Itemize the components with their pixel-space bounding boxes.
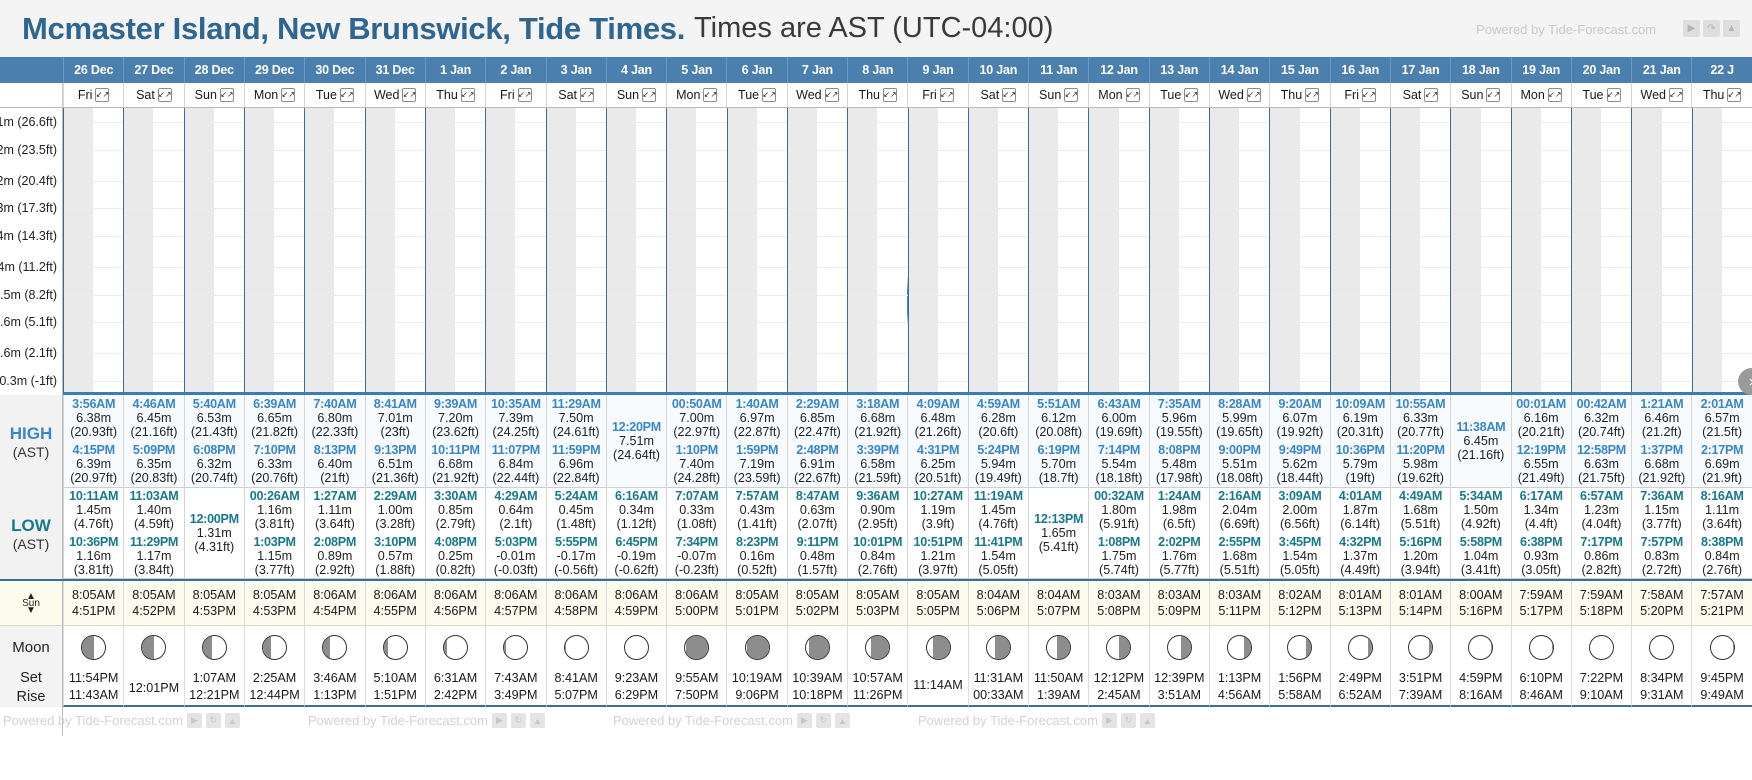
expand-icon[interactable]: ↙↗ bbox=[518, 88, 532, 102]
tide-height-m: 6.16m bbox=[1524, 411, 1559, 425]
sun-cell: 7:59AM5:18PM bbox=[1571, 581, 1631, 626]
moon-phase-icon bbox=[503, 635, 528, 660]
tide-height-m: 0.93m bbox=[1524, 549, 1559, 563]
tide-height-m: 7.50m bbox=[559, 411, 594, 425]
sunrise-time: 7:59AM bbox=[1519, 588, 1562, 602]
expand-icon[interactable]: ↙↗ bbox=[1727, 88, 1741, 102]
tide-height-ft: (21.82ft) bbox=[251, 425, 298, 439]
date-cell[interactable]: 8 Jan bbox=[847, 57, 907, 83]
high-tide-cell: 8:28AM5.99m(19.65ft)9:00PM5.51m(18.08ft) bbox=[1209, 395, 1269, 488]
sun-cell: 8:01AM5:14PM bbox=[1390, 581, 1450, 626]
weekday-cell: Tue↙↗ bbox=[1571, 83, 1631, 107]
date-cell[interactable]: 16 Jan bbox=[1330, 57, 1390, 83]
date-cell[interactable]: 28 Dec bbox=[184, 57, 244, 83]
page-header: Mcmaster Island, New Brunswick, Tide Tim… bbox=[0, 0, 1752, 57]
moonset-time: 2:49PM bbox=[1339, 671, 1382, 685]
high-tide-cell: 3:18AM6.68m(21.92ft)3:39PM6.58m(21.59ft) bbox=[847, 395, 907, 488]
moon-phase-icon bbox=[564, 635, 589, 660]
expand-icon[interactable]: ↙↗ bbox=[95, 88, 109, 102]
expand-icon[interactable]: ↙↗ bbox=[1607, 88, 1621, 102]
tide-time: 11:29PM bbox=[130, 535, 178, 549]
tide-height-ft: (21.75ft) bbox=[1578, 471, 1625, 485]
weekday-cell: Mon↙↗ bbox=[666, 83, 726, 107]
tide-time: 7:10PM bbox=[253, 443, 295, 457]
sunset-time: 5:09PM bbox=[1158, 604, 1201, 618]
tide-height-ft: (21.16ft) bbox=[131, 425, 178, 439]
tide-height-m: 1.65m bbox=[1041, 526, 1076, 540]
date-cell[interactable]: 20 Jan bbox=[1571, 57, 1631, 83]
expand-icon[interactable]: ↙↗ bbox=[940, 88, 954, 102]
low-tide-cell: 00:32AM1.80m(5.91ft)1:08PM1.75m(5.74ft) bbox=[1088, 488, 1148, 579]
tide-time: 1:21AM bbox=[1640, 397, 1683, 411]
day-separator bbox=[1028, 108, 1029, 392]
tide-time: 1:59PM bbox=[736, 443, 778, 457]
tide-height-m: 1.11m bbox=[1705, 503, 1739, 517]
sunrise-time: 8:04AM bbox=[977, 588, 1020, 602]
footer-strip: Powered by Tide-Forecast.com▶↻▲Powered b… bbox=[63, 707, 1752, 736]
moonset-time: 9:23AM bbox=[615, 671, 658, 685]
moon-cell bbox=[63, 626, 123, 668]
tide-time: 1:27AM bbox=[313, 489, 356, 503]
day-separator bbox=[1269, 108, 1270, 392]
tide-height-ft: (0.52ft) bbox=[737, 563, 777, 577]
tide-height-ft: (19ft) bbox=[1346, 471, 1375, 485]
sunset-time: 5:13PM bbox=[1339, 604, 1382, 618]
moonset-time: 12:12PM bbox=[1094, 671, 1144, 685]
moon-setrise-cell: 6:10PM8:46AM bbox=[1511, 668, 1571, 707]
date-cell[interactable]: 30 Dec bbox=[304, 57, 364, 83]
sunset-time: 5:16PM bbox=[1459, 604, 1502, 618]
weekday-label: Tue bbox=[738, 88, 759, 102]
high-tide-cell: 10:09AM6.19m(20.31ft)10:36PM5.79m(19ft) bbox=[1330, 395, 1390, 488]
date-cell[interactable]: 15 Jan bbox=[1269, 57, 1329, 83]
sun-cell: 7:57AM5:21PM bbox=[1691, 581, 1751, 626]
date-cell[interactable]: 3 Jan bbox=[546, 57, 606, 83]
tide-height-m: 1.17m bbox=[136, 549, 171, 563]
high-tide-cell: 12:20PM7.51m(24.64ft) bbox=[606, 395, 666, 488]
moon-cell bbox=[968, 626, 1028, 668]
tide-height-ft: (22.44ft) bbox=[492, 471, 539, 485]
day-separator bbox=[485, 108, 486, 392]
y-axis-tick: 4.4m (14.3ft) bbox=[0, 229, 57, 243]
date-cell[interactable]: 29 Dec bbox=[244, 57, 304, 83]
tide-time: 4:31PM bbox=[917, 443, 959, 457]
tide-time: 6:43AM bbox=[1097, 397, 1140, 411]
moon-setrise-cell: 11:54PM11:43AM bbox=[63, 668, 123, 707]
tide-height-m: 1.23m bbox=[1584, 503, 1619, 517]
tide-height-ft: (3.77ft) bbox=[255, 563, 295, 577]
moon-cell bbox=[425, 626, 485, 668]
sunset-time: 5:02PM bbox=[796, 604, 839, 618]
tide-height-m: 0.83m bbox=[1644, 549, 1679, 563]
date-cell[interactable]: 21 Jan bbox=[1631, 57, 1691, 83]
date-cell[interactable]: 4 Jan bbox=[606, 57, 666, 83]
tide-time: 6:16AM bbox=[615, 489, 658, 503]
tide-height-m: 0.57m bbox=[378, 549, 413, 563]
high-tide-cell: 11:29AM7.50m(24.61ft)11:59PM6.96m(22.84f… bbox=[546, 395, 606, 488]
tide-height-m: 0.85m bbox=[438, 503, 473, 517]
tide-time: 4:15PM bbox=[73, 443, 115, 457]
tide-height-m: 6.65m bbox=[257, 411, 292, 425]
footer-watermark: Powered by Tide-Forecast.com▶↻▲ bbox=[918, 713, 1155, 728]
tide-time: 3:45PM bbox=[1279, 535, 1321, 549]
tide-time: 4:29AM bbox=[494, 489, 537, 503]
high-tide-cell: 6:39AM6.65m(21.82ft)7:10PM6.33m(20.76ft) bbox=[244, 395, 304, 488]
moon-setrise-cell: 2:25AM12:44PM bbox=[244, 668, 304, 707]
expand-icon[interactable]: ↙↗ bbox=[642, 88, 656, 102]
tide-height-ft: (3.97ft) bbox=[918, 563, 958, 577]
tide-height-m: 0.90m bbox=[860, 503, 895, 517]
tide-time: 11:59PM bbox=[552, 443, 600, 457]
tide-time: 4:01AM bbox=[1339, 489, 1382, 503]
tide-height-ft: (4.76ft) bbox=[74, 517, 114, 531]
tide-height-ft: (20.6ft) bbox=[978, 425, 1018, 439]
tide-height-m: 6.51m bbox=[378, 457, 413, 471]
moon-phase-icon bbox=[1046, 635, 1071, 660]
sunrise-time: 8:06AM bbox=[374, 588, 417, 602]
tide-height-ft: (4.4ft) bbox=[1525, 517, 1558, 531]
tide-time: 7:34PM bbox=[676, 535, 718, 549]
expand-icon[interactable]: ↙↗ bbox=[1002, 88, 1016, 102]
tide-time: 00:50AM bbox=[672, 397, 722, 411]
moon-setrise-label: Set Rise bbox=[0, 668, 63, 707]
sunrise-time: 8:05AM bbox=[796, 588, 839, 602]
moon-cell bbox=[365, 626, 425, 668]
tide-height-m: 1.21m bbox=[921, 549, 956, 563]
moonrise-time: 3:49PM bbox=[494, 688, 537, 702]
weekday-label: Wed bbox=[374, 88, 399, 102]
expand-icon[interactable]: ↙↗ bbox=[703, 88, 717, 102]
tide-height-ft: (20.51ft) bbox=[915, 471, 962, 485]
moon-setrise-cell: 9:45PM9:49AM bbox=[1691, 668, 1751, 707]
tide-height-m: 2.04m bbox=[1222, 503, 1257, 517]
sun-cell: 8:00AM5:16PM bbox=[1450, 581, 1510, 626]
moon-phase-icon bbox=[1167, 635, 1192, 660]
low-tide-cell: 5:24AM0.45m(1.48ft)5:55PM-0.17m(-0.56ft) bbox=[546, 488, 606, 579]
date-cell[interactable]: 17 Jan bbox=[1390, 57, 1450, 83]
expand-icon[interactable]: ↙↗ bbox=[461, 88, 475, 102]
tide-height-m: 5.98m bbox=[1403, 457, 1438, 471]
sunset-time: 4:51PM bbox=[72, 604, 115, 618]
day-separator bbox=[787, 108, 788, 392]
sunset-time: 4:53PM bbox=[253, 604, 296, 618]
tide-height-m: 6.32m bbox=[1584, 411, 1619, 425]
tide-height-m: 1.16m bbox=[76, 549, 111, 563]
tide-height-m: 1.54m bbox=[981, 549, 1016, 563]
tide-height-m: 6.45m bbox=[136, 411, 171, 425]
date-cell[interactable]: 12 Jan bbox=[1088, 57, 1148, 83]
date-cell[interactable]: 14 Jan bbox=[1209, 57, 1269, 83]
moonrise-time: 10:18PM bbox=[792, 688, 842, 702]
low-tide-cell: 6:17AM1.34m(4.4ft)6:38PM0.93m(3.05ft) bbox=[1511, 488, 1571, 579]
sun-cell: 8:05AM4:53PM bbox=[244, 581, 304, 626]
expand-icon[interactable]: ↙↗ bbox=[825, 88, 839, 102]
tide-time: 7:17PM bbox=[1580, 535, 1622, 549]
tide-height-ft: (2.07ft) bbox=[797, 517, 837, 531]
expand-icon[interactable]: ↙↗ bbox=[340, 88, 354, 102]
moon-phase-icon bbox=[805, 635, 830, 660]
sun-cell: 8:06AM4:58PM bbox=[546, 581, 606, 626]
date-cell[interactable]: 22 J bbox=[1691, 57, 1751, 83]
tide-time: 3:18AM bbox=[856, 397, 899, 411]
expand-icon[interactable]: ↙↗ bbox=[580, 88, 594, 102]
sunset-time: 5:21PM bbox=[1700, 604, 1743, 618]
tide-height-ft: (5.41ft) bbox=[1039, 540, 1079, 554]
moon-label: Moon bbox=[0, 626, 63, 668]
tide-height-ft: (19.55ft) bbox=[1156, 425, 1203, 439]
expand-icon[interactable]: ↙↗ bbox=[158, 88, 172, 102]
sunset-time: 5:17PM bbox=[1519, 604, 1562, 618]
tide-plot-area bbox=[63, 108, 1752, 395]
high-tide-cell: 00:50AM7.00m(22.97ft)1:10PM7.40m(24.28ft… bbox=[666, 395, 726, 488]
date-cell[interactable]: 11 Jan bbox=[1028, 57, 1088, 83]
moon-setrise-cell: 2:49PM6:52AM bbox=[1330, 668, 1390, 707]
tide-height-ft: (3.41ft) bbox=[1461, 563, 1501, 577]
tide-time: 10:11PM bbox=[431, 443, 479, 457]
moonset-time: 2:25AM bbox=[253, 671, 296, 685]
tide-height-ft: (5.51ft) bbox=[1220, 563, 1260, 577]
tide-time: 8:08PM bbox=[1158, 443, 1200, 457]
tide-time: 00:42AM bbox=[1577, 397, 1627, 411]
date-cell[interactable]: 18 Jan bbox=[1450, 57, 1510, 83]
tide-height-ft: (20.83ft) bbox=[131, 471, 178, 485]
tide-time: 5:03PM bbox=[495, 535, 537, 549]
low-tide-cell: 3:09AM2.00m(6.56ft)3:45PM1.54m(5.05ft) bbox=[1269, 488, 1329, 579]
expand-icon[interactable]: ↙↗ bbox=[1669, 88, 1683, 102]
date-cell[interactable]: 27 Dec bbox=[123, 57, 183, 83]
low-tide-cell: 00:26AM1.16m(3.81ft)1:03PM1.15m(3.77ft) bbox=[244, 488, 304, 579]
moonset-time: 6:10PM bbox=[1519, 671, 1562, 685]
sunset-time: 5:05PM bbox=[916, 604, 959, 618]
sun-cell: 8:06AM4:57PM bbox=[485, 581, 545, 626]
tide-height-ft: (21ft) bbox=[320, 471, 349, 485]
expand-icon[interactable]: ↙↗ bbox=[1064, 88, 1078, 102]
moon-phase-icon bbox=[624, 635, 649, 660]
moon-cell bbox=[1631, 626, 1691, 668]
tide-height-ft: (21.5ft) bbox=[1702, 425, 1742, 439]
weekday-cell: Sat↙↗ bbox=[546, 83, 606, 107]
date-cell[interactable]: 31 Dec bbox=[365, 57, 425, 83]
moonset-time: 7:22PM bbox=[1580, 671, 1623, 685]
tide-height-ft: (21.2ft) bbox=[1642, 425, 1682, 439]
sunrise-time: 8:05AM bbox=[72, 588, 115, 602]
weekday-cell: Tue↙↗ bbox=[1149, 83, 1209, 107]
moon-cell bbox=[726, 626, 786, 668]
expand-icon[interactable]: ↙↗ bbox=[1305, 88, 1319, 102]
tide-height-m: 6.33m bbox=[257, 457, 292, 471]
tide-height-m: 6.07m bbox=[1282, 411, 1317, 425]
moonrise-time: 1:51PM bbox=[374, 688, 417, 702]
tide-time: 6:45PM bbox=[615, 535, 657, 549]
tide-time: 3:56AM bbox=[72, 397, 115, 411]
moon-setrise-cell: 11:14AM bbox=[907, 668, 967, 707]
moonrise-time: 11:26PM bbox=[853, 688, 902, 702]
tide-time: 7:57PM bbox=[1641, 535, 1683, 549]
high-label-tz: (AST) bbox=[13, 444, 50, 460]
sun-section: ▲Sun▼ 8:05AM4:51PM8:05AM4:52PM8:05AM4:53… bbox=[0, 581, 1752, 626]
sunrise-time: 7:57AM bbox=[1700, 588, 1743, 602]
tide-height-m: 7.01m bbox=[378, 411, 413, 425]
weekday-label: Fri bbox=[500, 88, 515, 102]
tide-height-m: 6.48m bbox=[921, 411, 956, 425]
moon-phase-icon bbox=[1287, 635, 1312, 660]
expand-icon[interactable]: ↙↗ bbox=[1247, 88, 1261, 102]
moonset-time: 9:45PM bbox=[1700, 671, 1743, 685]
high-tide-cell: 10:35AM7.39m(24.25ft)11:07PM6.84m(22.44f… bbox=[485, 395, 545, 488]
tide-height-m: 6.25m bbox=[921, 457, 956, 471]
tide-height-m: 6.91m bbox=[800, 457, 835, 471]
expand-icon[interactable]: ↙↗ bbox=[1362, 88, 1376, 102]
tide-time: 5:24AM bbox=[555, 489, 598, 503]
tide-height-ft: (6.14ft) bbox=[1340, 517, 1380, 531]
tide-height-ft: (3.64ft) bbox=[315, 517, 355, 531]
moon-cell bbox=[1571, 626, 1631, 668]
date-cell[interactable]: 7 Jan bbox=[787, 57, 847, 83]
tide-time: 11:07PM bbox=[492, 443, 540, 457]
moon-cell bbox=[1209, 626, 1269, 668]
expand-icon[interactable]: ↙↗ bbox=[402, 88, 416, 102]
tide-time: 9:39AM bbox=[434, 397, 477, 411]
expand-icon[interactable]: ↙↗ bbox=[762, 88, 776, 102]
weekday-cell: Thu↙↗ bbox=[847, 83, 907, 107]
tide-time: 9:20AM bbox=[1278, 397, 1321, 411]
tide-height-ft: (21.26ft) bbox=[915, 425, 962, 439]
high-tide-cell: 6:43AM6.00m(19.69ft)7:14PM5.54m(18.18ft) bbox=[1088, 395, 1148, 488]
expand-icon[interactable]: ↙↗ bbox=[1126, 88, 1140, 102]
tide-height-m: 1.15m bbox=[257, 549, 292, 563]
date-cell[interactable]: 6 Jan bbox=[726, 57, 786, 83]
high-tide-cell: 10:55AM6.33m(20.77ft)11:20PM5.98m(19.62f… bbox=[1390, 395, 1450, 488]
weekday-header-row: Fri↙↗Sat↙↗Sun↙↗Mon↙↗Tue↙↗Wed↙↗Thu↙↗Fri↙↗… bbox=[0, 83, 1752, 108]
sunset-time: 5:20PM bbox=[1640, 604, 1683, 618]
tide-time: 8:23PM bbox=[736, 535, 778, 549]
moon-cell bbox=[1450, 626, 1510, 668]
moon-phase-icon bbox=[1529, 635, 1554, 660]
day-separator bbox=[546, 108, 547, 392]
tide-height-ft: (2.1ft) bbox=[499, 517, 532, 531]
tide-height-ft: (2.92ft) bbox=[315, 563, 355, 577]
tide-time: 12:19PM bbox=[1517, 443, 1566, 457]
weekday-label: Tue bbox=[1160, 88, 1181, 102]
expand-icon[interactable]: ↙↗ bbox=[1486, 88, 1500, 102]
day-separator bbox=[666, 108, 667, 392]
tide-height-ft: (3.84ft) bbox=[134, 563, 174, 577]
date-cell[interactable]: 19 Jan bbox=[1511, 57, 1571, 83]
tide-time: 2:17PM bbox=[1701, 443, 1743, 457]
date-cell[interactable]: 2 Jan bbox=[485, 57, 545, 83]
high-tide-cell: 7:40AM6.80m(22.33ft)8:13PM6.40m(21ft) bbox=[304, 395, 364, 488]
date-header-row: 26 Dec27 Dec28 Dec29 Dec30 Dec31 Dec1 Ja… bbox=[0, 57, 1752, 83]
expand-icon[interactable]: ↙↗ bbox=[1424, 88, 1438, 102]
sun-arrows-icon: ▲Sun▼ bbox=[22, 593, 40, 614]
tide-height-ft: (20.97ft) bbox=[70, 471, 117, 485]
y-axis-tick: 7.2m (23.5ft) bbox=[0, 143, 57, 157]
sunset-time: 5:07PM bbox=[1037, 604, 1080, 618]
expand-icon[interactable]: ↙↗ bbox=[1548, 88, 1562, 102]
moonrise-time: 4:56AM bbox=[1218, 688, 1261, 702]
tide-height-m: 6.12m bbox=[1041, 411, 1076, 425]
high-tide-cell: 00:01AM6.16m(20.21ft)12:19PM6.55m(21.49f… bbox=[1511, 395, 1571, 488]
tide-time: 5:16PM bbox=[1399, 535, 1441, 549]
day-separator bbox=[727, 108, 728, 392]
tide-height-m: 7.20m bbox=[438, 411, 473, 425]
date-cell[interactable]: 9 Jan bbox=[907, 57, 967, 83]
date-cell[interactable]: 1 Jan bbox=[425, 57, 485, 83]
expand-icon[interactable]: ↙↗ bbox=[883, 88, 897, 102]
sun-cell: 8:05AM5:03PM bbox=[847, 581, 907, 626]
tide-height-m: 0.84m bbox=[860, 549, 895, 563]
moon-phase-icon bbox=[202, 635, 227, 660]
moonrise-time: 6:52AM bbox=[1339, 688, 1382, 702]
tide-time: 6:38PM bbox=[1520, 535, 1562, 549]
tide-time: 6:19PM bbox=[1038, 443, 1080, 457]
tide-height-ft: (4.04ft) bbox=[1582, 517, 1622, 531]
rise-label: Rise bbox=[16, 689, 45, 705]
sun-cell: 8:06AM4:56PM bbox=[425, 581, 485, 626]
date-cell[interactable]: 5 Jan bbox=[666, 57, 726, 83]
moon-phase-icon bbox=[745, 635, 770, 660]
tide-height-m: 1.45m bbox=[76, 503, 111, 517]
tide-height-m: 5.79m bbox=[1343, 457, 1378, 471]
tide-height-m: 6.45m bbox=[1463, 434, 1498, 448]
tide-height-m: 6.55m bbox=[1524, 457, 1559, 471]
expand-icon[interactable]: ↙↗ bbox=[281, 88, 295, 102]
tide-height-ft: (2.76ft) bbox=[858, 563, 898, 577]
moon-phase-icon bbox=[81, 635, 106, 660]
date-cell[interactable]: 10 Jan bbox=[968, 57, 1028, 83]
moon-phase-icon bbox=[1106, 635, 1131, 660]
sunset-time: 4:52PM bbox=[132, 604, 175, 618]
tide-height-m: 6.19m bbox=[1343, 411, 1378, 425]
moonset-time: 8:41AM bbox=[554, 671, 597, 685]
tide-time: 3:10PM bbox=[374, 535, 416, 549]
date-cell[interactable]: 26 Dec bbox=[63, 57, 123, 83]
low-tide-cell: 9:36AM0.90m(2.95ft)10:01PM0.84m(2.76ft) bbox=[847, 488, 907, 579]
tide-time: 5:55PM bbox=[555, 535, 597, 549]
tide-time: 4:49AM bbox=[1399, 489, 1442, 503]
weekday-label: Wed bbox=[1641, 88, 1666, 102]
tide-time: 2:16AM bbox=[1218, 489, 1261, 503]
tide-time: 2:01AM bbox=[1701, 397, 1744, 411]
tide-height-ft: (21.49ft) bbox=[1518, 471, 1565, 485]
tide-height-ft: (21.16ft) bbox=[1457, 448, 1504, 462]
tide-height-ft: (21.9ft) bbox=[1702, 471, 1742, 485]
header-watermark-icons: ▶ ↷ ▲ bbox=[1683, 20, 1740, 37]
weekday-label: Mon bbox=[254, 88, 278, 102]
moon-cell bbox=[546, 626, 606, 668]
sun-cell: 8:05AM4:52PM bbox=[123, 581, 183, 626]
low-tide-cell: 1:27AM1.11m(3.64ft)2:08PM0.89m(2.92ft) bbox=[304, 488, 364, 579]
weekday-label: Mon bbox=[1098, 88, 1122, 102]
tide-time: 4:46AM bbox=[132, 397, 175, 411]
expand-icon[interactable]: ↙↗ bbox=[220, 88, 234, 102]
tide-height-m: 1.68m bbox=[1403, 503, 1438, 517]
tide-time: 1:40AM bbox=[736, 397, 779, 411]
tide-height-ft: (5.74ft) bbox=[1099, 563, 1139, 577]
moonset-time: 10:57AM bbox=[853, 671, 903, 685]
tide-height-ft: (4.31ft) bbox=[194, 540, 234, 554]
tide-height-ft: (0.82ft) bbox=[436, 563, 476, 577]
tide-height-m: -0.07m bbox=[677, 549, 716, 563]
tide-time: 6:08PM bbox=[193, 443, 235, 457]
moonrise-time: 9:31AM bbox=[1640, 688, 1683, 702]
date-cell[interactable]: 13 Jan bbox=[1149, 57, 1209, 83]
moonrise-time: 5:58AM bbox=[1278, 688, 1321, 702]
expand-icon[interactable]: ↙↗ bbox=[1184, 88, 1198, 102]
sunset-time: 4:56PM bbox=[434, 604, 477, 618]
moon-setrise-cell: 5:10AM1:51PM bbox=[365, 668, 425, 707]
tide-time: 2:48PM bbox=[796, 443, 838, 457]
